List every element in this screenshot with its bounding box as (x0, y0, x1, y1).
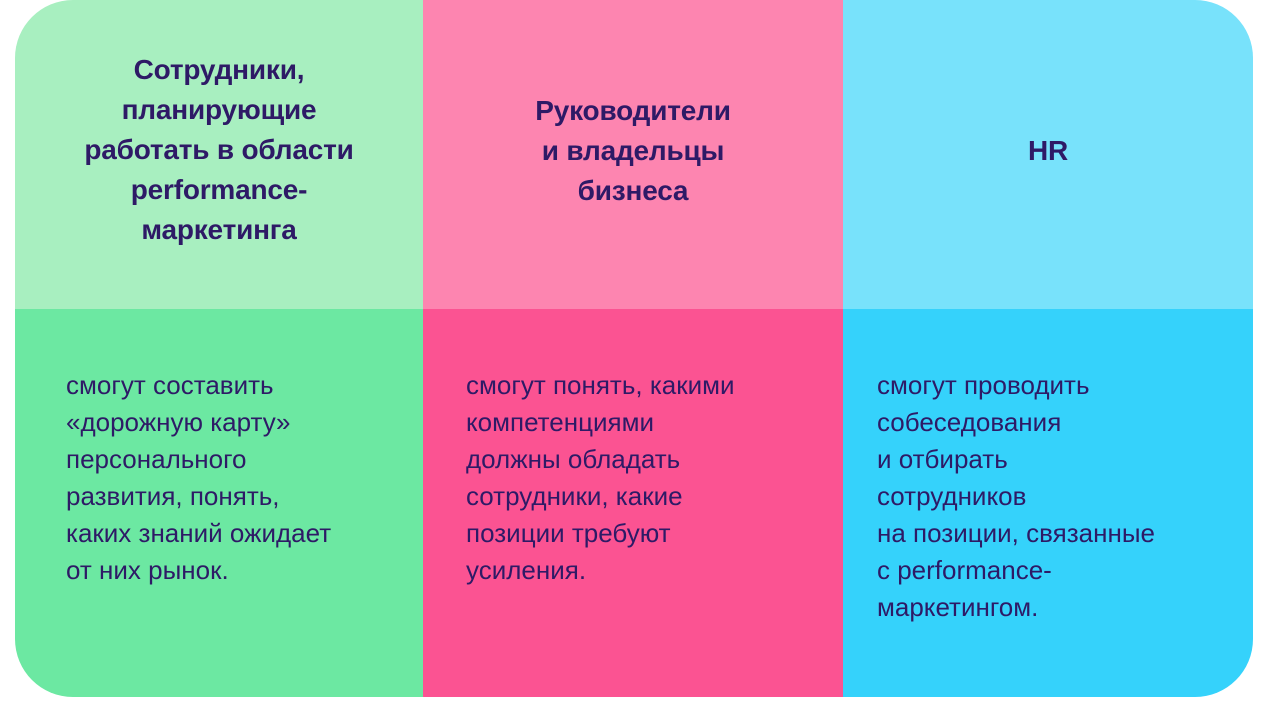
column-body-managers-text: смогут понять, какими компетенциями долж… (423, 367, 749, 589)
column-body-managers: смогут понять, какими компетенциями долж… (423, 309, 843, 697)
column-header-hr-label: HR (1028, 131, 1068, 171)
column-header-managers: Руководители и владельцы бизнеса (423, 0, 843, 309)
column-header-employees: Сотрудники, планирующие работать в облас… (15, 0, 423, 309)
column-header-hr: HR (843, 0, 1253, 309)
column-header-managers-label: Руководители и владельцы бизнеса (535, 91, 730, 211)
column-body-employees: смогут составить «дорожную карту» персон… (15, 309, 423, 697)
column-body-employees-text: смогут составить «дорожную карту» персон… (15, 367, 345, 589)
column-body-hr: смогут проводить собеседования и отбират… (843, 309, 1253, 697)
column-body-hr-text: смогут проводить собеседования и отбират… (843, 367, 1165, 626)
audience-benefits-infographic: Сотрудники, планирующие работать в облас… (15, 0, 1253, 697)
column-header-employees-label: Сотрудники, планирующие работать в облас… (84, 50, 353, 250)
